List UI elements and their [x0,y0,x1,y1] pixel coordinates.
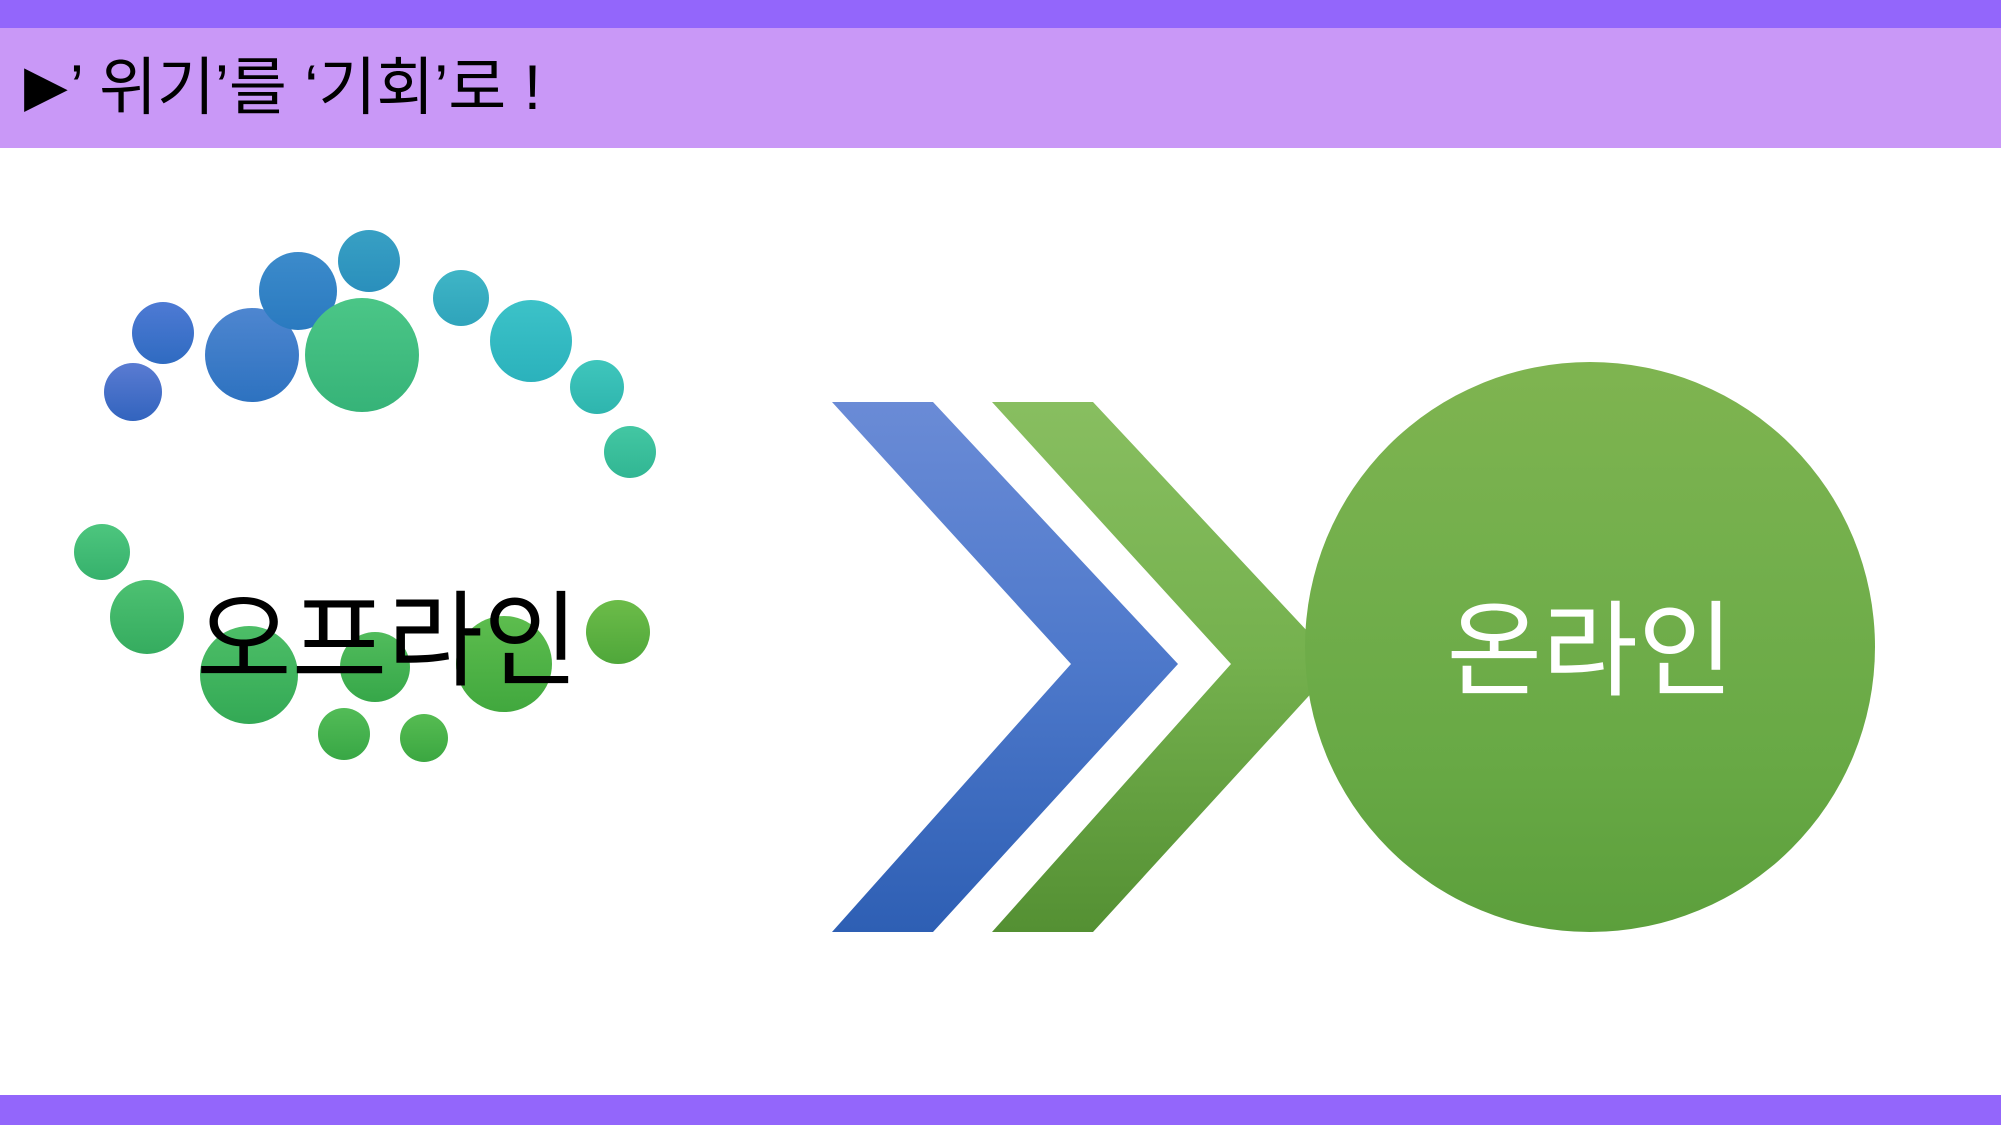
bubble-teal-small-1 [433,270,489,326]
bubble-green-dot-1 [74,524,130,580]
bottom-accent-bar [0,1095,2001,1125]
online-node: 온라인 [1305,362,1875,932]
diagram-area: 오프라인 온라 [0,148,2001,1095]
slide-title: ▶ ’ 위기’를 ‘기회’로 ! [24,28,541,148]
slide-title-text: ’ 위기’를 ‘기회’로 ! [70,57,541,120]
chevron-green-icon [978,402,1338,932]
online-node-label: 온라인 [1446,598,1733,707]
top-accent-bar [0,0,2001,28]
offline-node: 오프라인 [0,148,900,1095]
bubble-green-dot-2 [110,580,184,654]
offline-node-label: 오프라인 [196,588,616,697]
bubble-blue-small-2 [132,302,194,364]
bubble-teal-small-2 [570,360,624,414]
slide-canvas: ▶ ’ 위기’를 ‘기회’로 ! 오프라인 [0,0,2001,1125]
bubble-green-big [305,298,419,412]
bubble-teal-mid [490,300,572,382]
play-triangle-icon: ▶ [24,58,68,115]
bubble-blue-top [338,230,400,292]
bubble-blue-small-1 [104,363,162,421]
bubble-green-dot-6 [400,714,448,762]
bubble-green-dot-5 [318,708,370,760]
bubble-teal-green [604,426,656,478]
